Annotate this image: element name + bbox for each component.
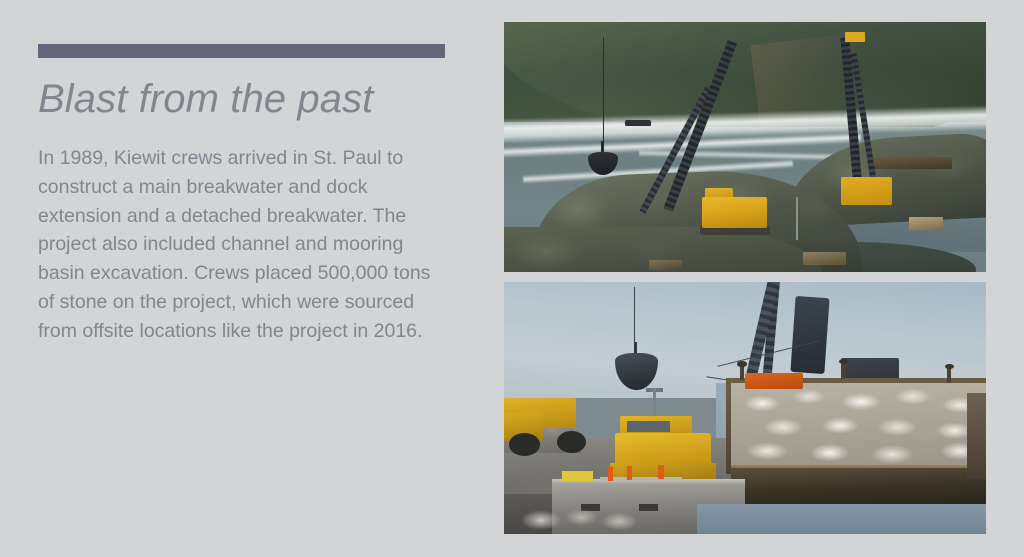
barge-post — [740, 365, 743, 380]
crane-body — [702, 197, 767, 228]
light-pole — [796, 197, 798, 240]
equipment-box — [562, 471, 593, 481]
breakwater-construction-photo — [504, 22, 986, 272]
crane-gantry — [791, 296, 830, 374]
barge-hull — [731, 468, 986, 508]
haul-truck-bed — [615, 433, 711, 466]
barge-shape — [870, 157, 952, 169]
slide: Blast from the past In 1989, Kiewit crew… — [0, 0, 1024, 557]
haul-truck-wheel — [557, 431, 586, 454]
accent-bar — [38, 44, 445, 58]
boom-tip — [845, 32, 864, 42]
hoist-cable — [603, 37, 604, 157]
safety-cone-icon — [608, 467, 613, 481]
text-column: Blast from the past In 1989, Kiewit crew… — [38, 44, 458, 346]
barge-post — [841, 363, 844, 379]
foreground-water-layer — [697, 504, 986, 534]
armor-stone-load — [731, 383, 986, 469]
barge-post-light — [737, 361, 747, 367]
haul-truck-window — [627, 421, 670, 432]
barge-post — [947, 368, 950, 383]
site-equipment — [803, 252, 846, 265]
safety-cone-icon — [658, 465, 663, 479]
crane-body — [841, 177, 892, 205]
stone-barge-loading-photo — [504, 282, 986, 534]
shoreline-rubble — [514, 504, 649, 534]
safety-cone-icon — [627, 466, 632, 480]
haul-truck-wheel — [509, 433, 540, 456]
page-title: Blast from the past — [38, 58, 458, 122]
dock-piling — [967, 393, 986, 479]
site-equipment — [649, 260, 683, 270]
body-paragraph: In 1989, Kiewit crews arrived in St. Pau… — [38, 122, 446, 346]
workboat-shape — [625, 120, 652, 126]
site-equipment — [909, 217, 943, 230]
excavator-on-barge — [745, 373, 803, 389]
